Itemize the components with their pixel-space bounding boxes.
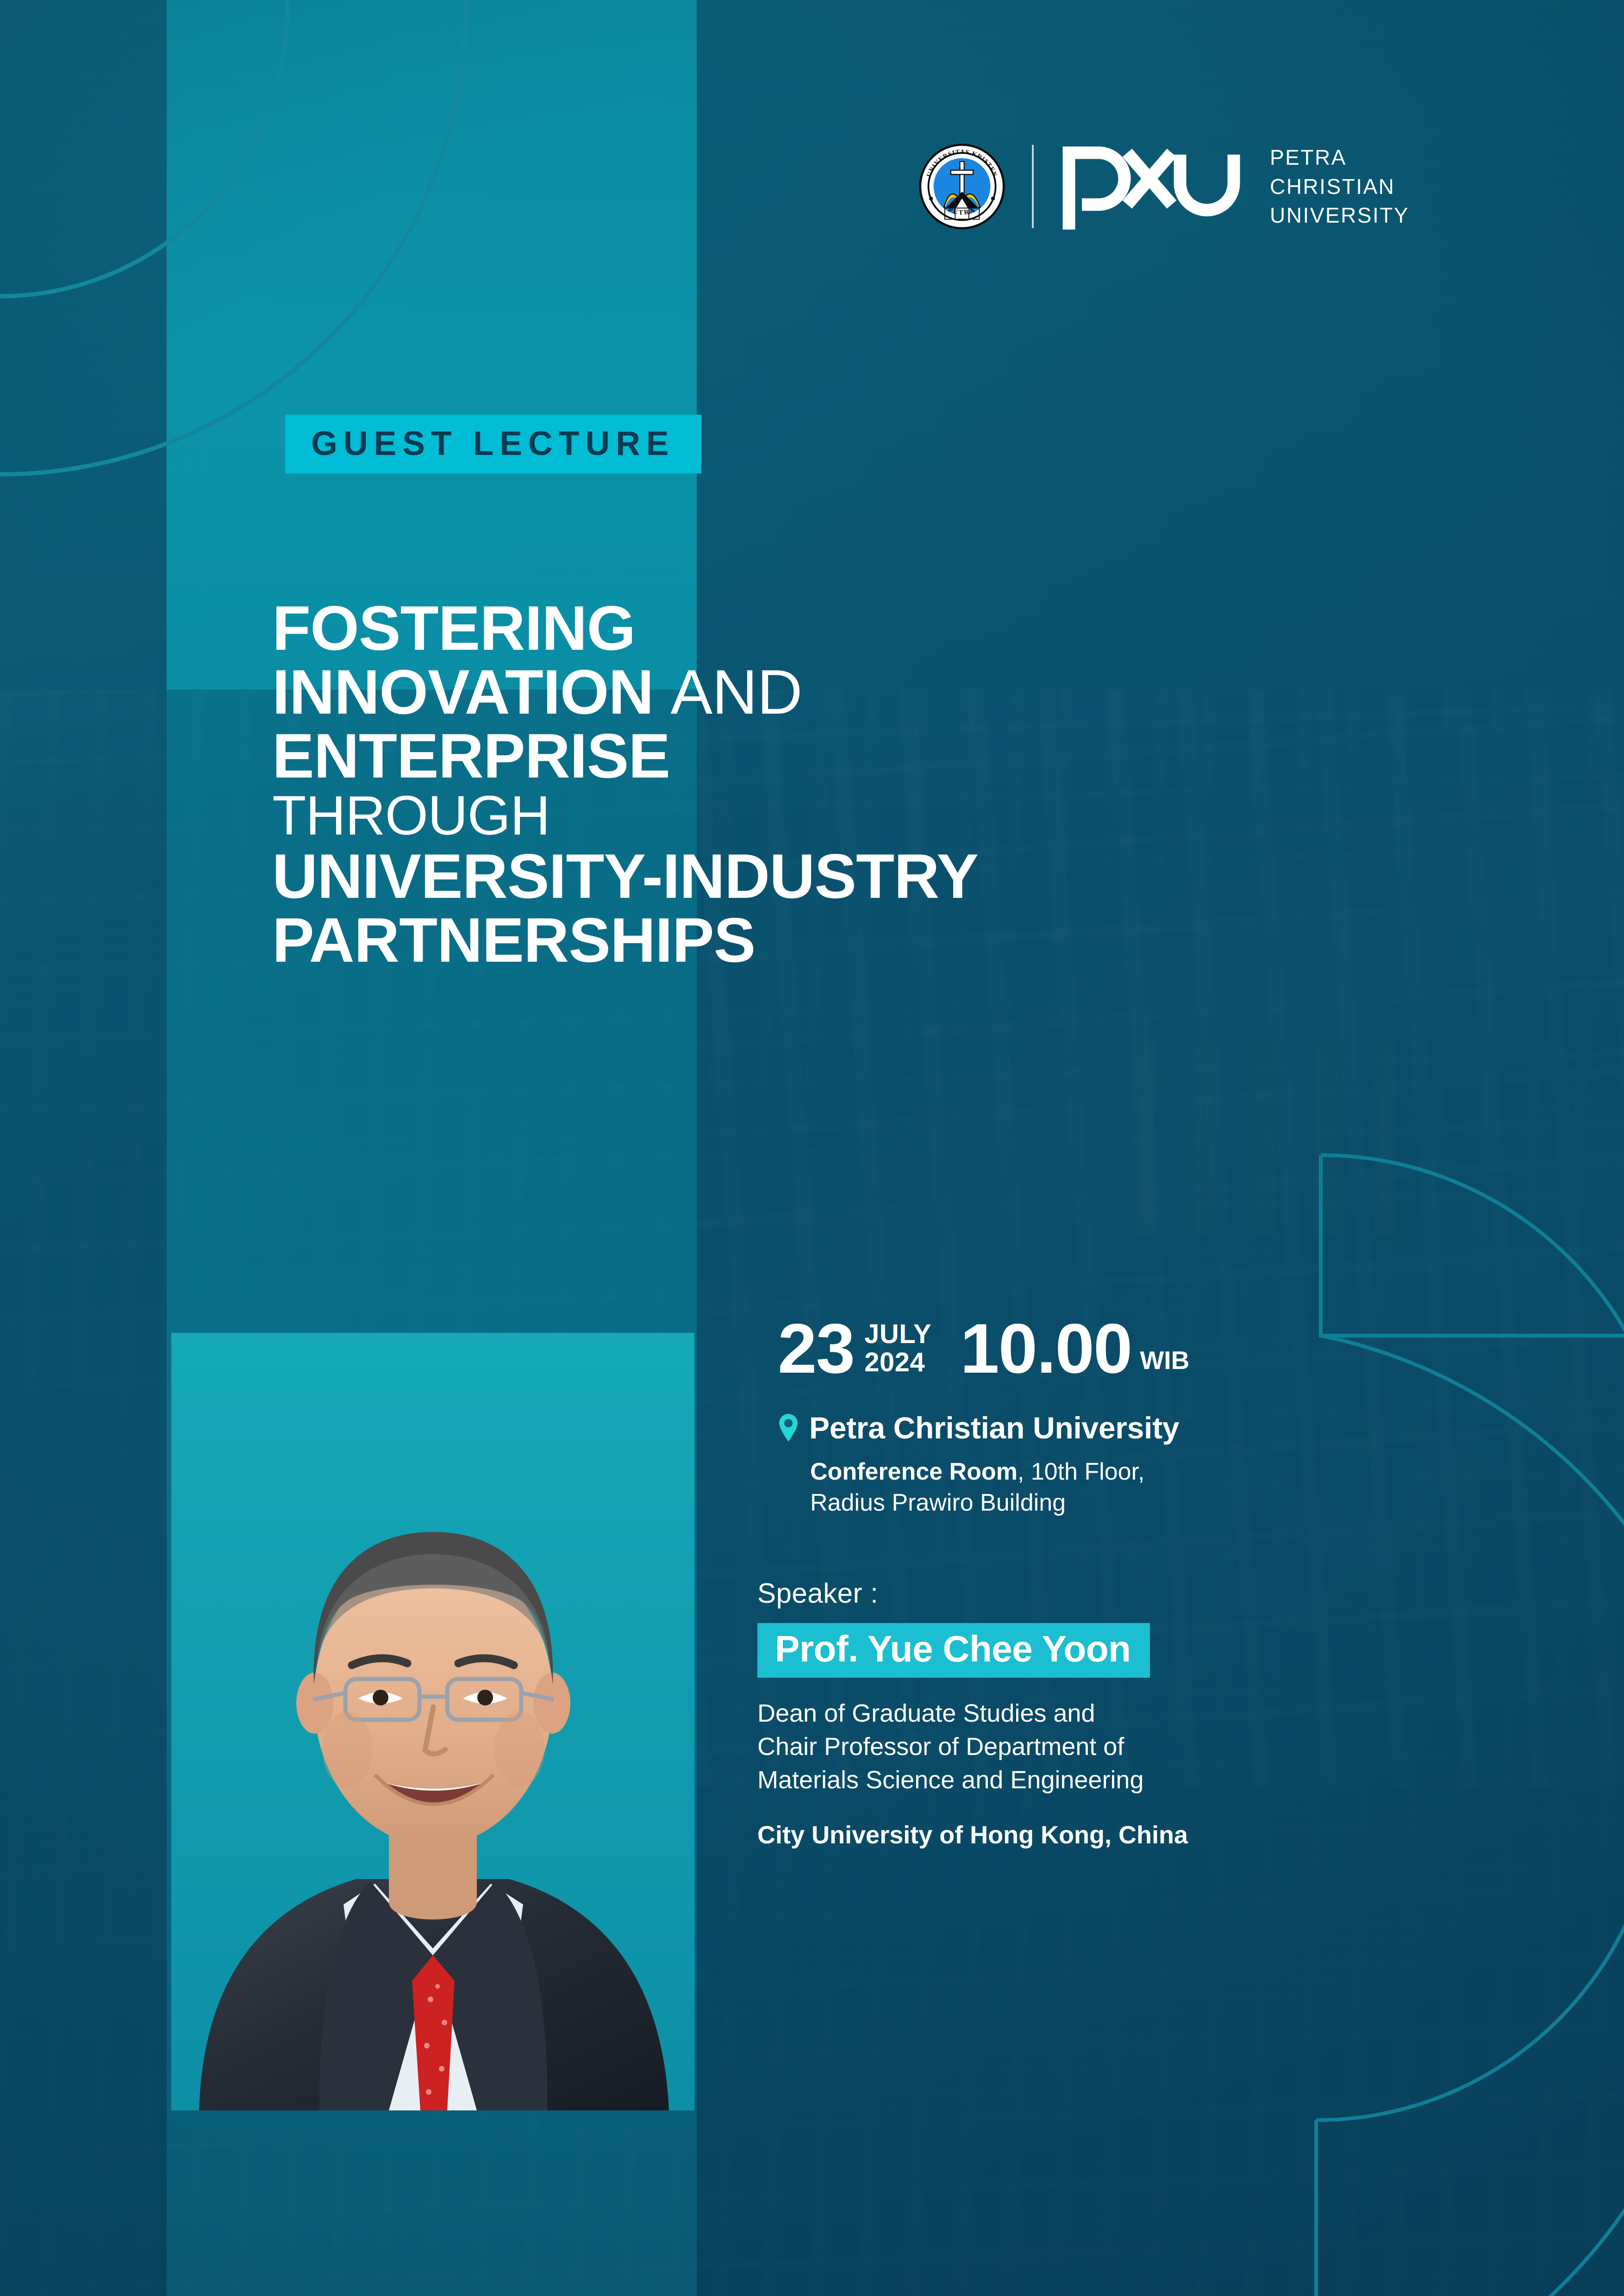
title-line-2-bold: INNOVATION bbox=[272, 657, 654, 727]
speaker-role-line-1: Dean of Graduate Studies and bbox=[757, 1697, 1565, 1730]
location-pin-icon bbox=[778, 1413, 799, 1442]
venue-name: Petra Christian University bbox=[809, 1410, 1179, 1445]
event-month-year: JULY 2024 bbox=[864, 1320, 931, 1377]
event-month: JULY bbox=[864, 1320, 931, 1348]
petra-crest-icon: . UNIVERSITAS KRISTEN PETRA bbox=[919, 143, 1005, 230]
title-line-2-light: AND bbox=[670, 657, 802, 727]
venue-room: Conference Room bbox=[810, 1458, 1018, 1485]
speaker-role: Dean of Graduate Studies and Chair Profe… bbox=[757, 1697, 1565, 1797]
speaker-role-line-2: Chair Professor of Department of bbox=[757, 1730, 1565, 1764]
venue-building: Radius Prawiro Building bbox=[810, 1489, 1066, 1516]
speaker-portrait bbox=[171, 1333, 694, 2110]
brand-lockup: . UNIVERSITAS KRISTEN PETRA bbox=[919, 139, 1409, 234]
poster-canvas: . UNIVERSITAS KRISTEN PETRA bbox=[0, 0, 1624, 2296]
event-details: 23 JULY 2024 10.00 WIB Petra Christian U… bbox=[778, 1317, 1565, 1849]
guest-lecture-badge: GUEST LECTURE bbox=[285, 415, 701, 473]
date-time-row: 23 JULY 2024 10.00 WIB bbox=[778, 1317, 1565, 1381]
brand-line-2: CHRISTIAN bbox=[1270, 172, 1409, 201]
title-line-6: PARTNERSHIPS bbox=[272, 908, 1430, 972]
event-timezone: WIB bbox=[1140, 1345, 1189, 1375]
pcu-wordmark: PETRA CHRISTIAN UNIVERSITY bbox=[1270, 143, 1409, 230]
brand-line-3: UNIVERSITY bbox=[1270, 201, 1409, 230]
title-line-5: UNIVERSITY-INDUSTRY bbox=[272, 844, 1430, 908]
speaker-label: Speaker : bbox=[757, 1577, 1565, 1609]
event-year: 2024 bbox=[864, 1348, 931, 1376]
title-line-3: ENTERPRISE bbox=[272, 724, 1430, 788]
speaker-name-badge: Prof. Yue Chee Yoon bbox=[757, 1623, 1150, 1678]
event-day: 23 bbox=[778, 1317, 854, 1381]
event-time-group: 10.00 WIB bbox=[960, 1317, 1189, 1381]
venue-block: Petra Christian University Conference Ro… bbox=[778, 1410, 1565, 1519]
pcu-logomark-icon bbox=[1058, 139, 1243, 234]
page-title: FOSTERING INNOVATION AND ENTERPRISE THRO… bbox=[272, 596, 1430, 972]
title-line-4: THROUGH bbox=[272, 788, 1430, 844]
logo-divider bbox=[1032, 145, 1034, 228]
title-line-1: FOSTERING bbox=[272, 596, 1430, 660]
brand-line-1: PETRA bbox=[1270, 143, 1409, 172]
speaker-name: Prof. Yue Chee Yoon bbox=[775, 1630, 1131, 1668]
venue-floor: , 10th Floor, bbox=[1018, 1458, 1145, 1485]
speaker-role-line-3: Materials Science and Engineering bbox=[757, 1764, 1565, 1797]
speaker-organization: City University of Hong Kong, China bbox=[757, 1821, 1565, 1849]
venue-name-row: Petra Christian University bbox=[778, 1410, 1565, 1445]
event-time: 10.00 bbox=[960, 1317, 1131, 1381]
guest-lecture-label: GUEST LECTURE bbox=[311, 427, 675, 460]
venue-address: Conference Room, 10th Floor, Radius Praw… bbox=[810, 1456, 1565, 1519]
